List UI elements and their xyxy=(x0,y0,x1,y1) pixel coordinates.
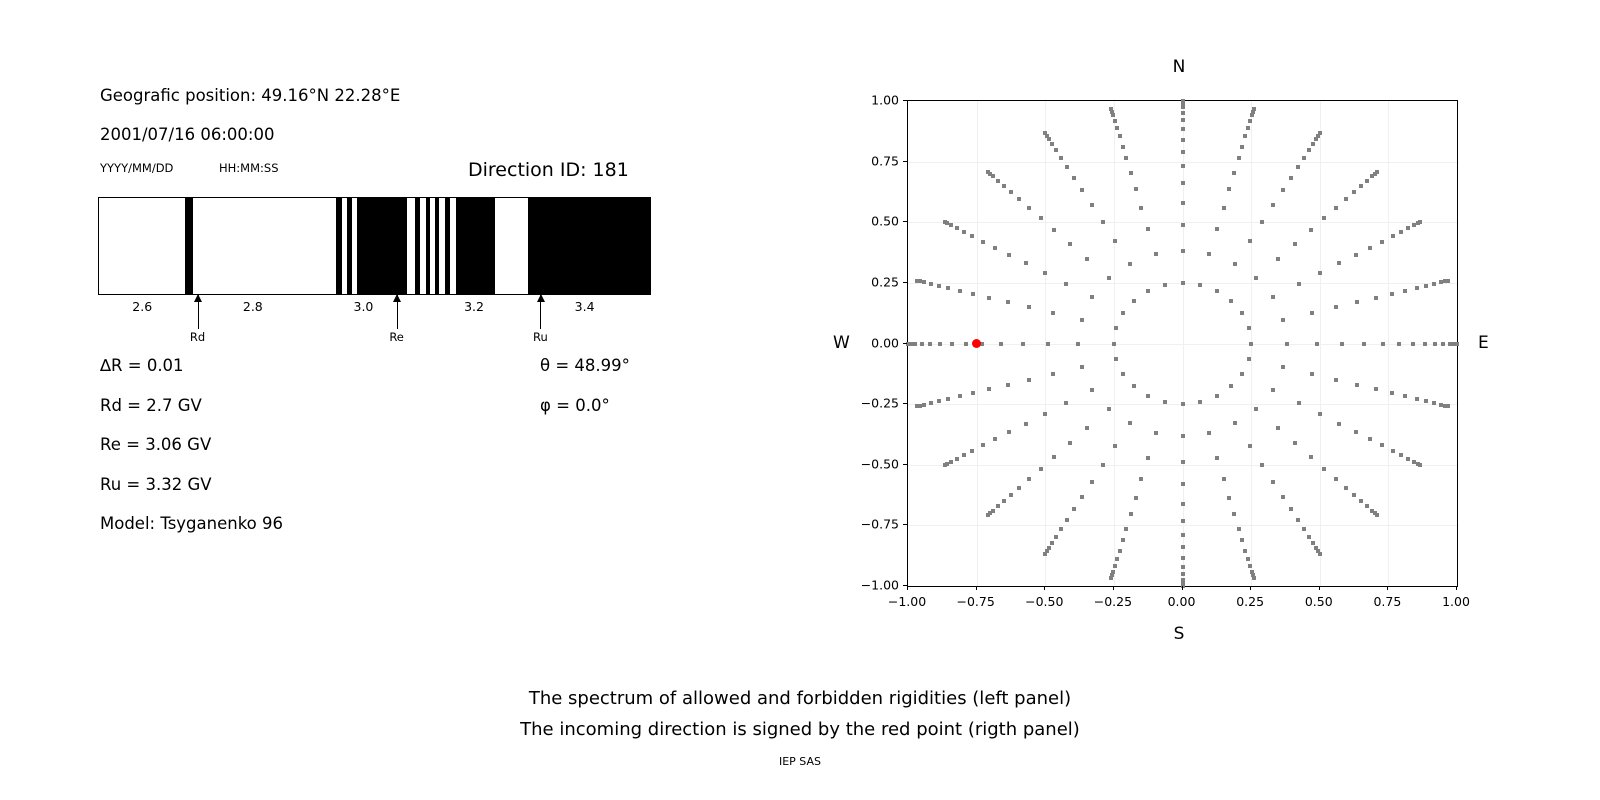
scatter-point xyxy=(1406,226,1410,230)
scatter-point xyxy=(1249,342,1253,346)
scatter-point xyxy=(1124,156,1128,160)
scatter-point xyxy=(1054,535,1058,539)
x-axis-tick-mark xyxy=(1113,586,1114,590)
scatter-point xyxy=(958,289,962,293)
scatter-point xyxy=(1359,184,1363,188)
scatter-point xyxy=(1352,190,1356,194)
scatter-point xyxy=(1051,372,1055,376)
scatter-point xyxy=(1254,407,1258,411)
scatter-point xyxy=(1302,156,1306,160)
scatter-point xyxy=(1052,455,1056,459)
scatter-point xyxy=(1181,150,1185,154)
scatter-point xyxy=(1181,519,1185,523)
scatter-point xyxy=(1281,188,1285,192)
scatter-point xyxy=(1340,342,1344,346)
x-axis-tick-label: 0.50 xyxy=(1305,594,1333,609)
scatter-point xyxy=(1017,486,1021,490)
scatter-point xyxy=(1076,342,1080,346)
scatter-point xyxy=(1181,434,1185,438)
scatter-point xyxy=(999,342,1003,346)
scatter-point xyxy=(1009,190,1013,194)
scatter-point xyxy=(1146,289,1150,293)
scatter-point xyxy=(1181,281,1185,285)
gridline-horizontal xyxy=(908,162,1457,163)
scatter-point xyxy=(1181,545,1185,549)
y-axis-tick-mark xyxy=(903,282,907,283)
parameter-row: Rd = 2.7 GV xyxy=(100,396,202,415)
scatter-point xyxy=(1064,401,1068,405)
scatter-point xyxy=(1154,252,1158,256)
x-axis-tick-mark xyxy=(1319,586,1320,590)
scatter-point xyxy=(1432,282,1436,286)
incoming-direction-marker xyxy=(972,339,981,348)
scatter-point xyxy=(1121,311,1125,315)
compass-label-north: N xyxy=(1173,57,1186,77)
scatter-point xyxy=(1441,342,1445,346)
datetime-label: 2001/07/16 06:00:00 xyxy=(100,125,274,144)
parameter-row: Ru = 3.32 GV xyxy=(100,475,212,494)
scatter-point xyxy=(1368,437,1372,441)
scatter-point xyxy=(986,170,990,174)
scatter-point xyxy=(1090,203,1094,207)
scatter-point xyxy=(1181,565,1185,569)
scatter-point xyxy=(1181,127,1185,131)
scatter-point xyxy=(1064,282,1068,286)
scatter-point xyxy=(1322,216,1326,220)
scatter-point xyxy=(1318,131,1322,135)
caption-line-2: The incoming direction is signed by the … xyxy=(0,719,1600,740)
x-axis-tick-mark xyxy=(1250,586,1251,590)
x-axis-tick-mark xyxy=(976,586,977,590)
forbidden-band xyxy=(357,197,407,295)
scatter-point xyxy=(1107,276,1111,280)
scatter-point xyxy=(1337,422,1341,426)
scatter-point xyxy=(1248,239,1252,243)
scatter-point xyxy=(1043,412,1047,416)
scatter-point xyxy=(1276,257,1280,261)
scatter-point xyxy=(1281,495,1285,499)
scatter-point xyxy=(1215,394,1219,398)
scatter-point xyxy=(937,399,941,403)
parameter-row: θ = 48.99° xyxy=(540,356,630,375)
scatter-point xyxy=(1240,145,1244,149)
scatter-point xyxy=(937,284,941,288)
scatter-point xyxy=(1072,507,1076,511)
date-format-hint: YYYY/MM/DD xyxy=(100,161,173,175)
x-axis-tick-mark xyxy=(1182,586,1183,590)
scatter-point xyxy=(1222,206,1226,210)
x-axis-tick-mark xyxy=(907,586,908,590)
scatter-point xyxy=(958,394,962,398)
scatter-point xyxy=(1229,384,1233,388)
scatter-point xyxy=(1233,262,1237,266)
scatter-point xyxy=(1381,342,1385,346)
scatter-point xyxy=(1271,203,1275,207)
x-axis-tick-label: 0.25 xyxy=(1236,594,1264,609)
scatter-point xyxy=(987,387,991,391)
spectrum-tick-label: 3.0 xyxy=(353,299,373,314)
scatter-point xyxy=(1027,305,1031,309)
scatter-point xyxy=(1006,300,1010,304)
scatter-point xyxy=(1080,495,1084,499)
scatter-point xyxy=(1302,527,1306,531)
scatter-point xyxy=(1215,289,1219,293)
forbidden-band xyxy=(528,197,651,295)
forbidden-band xyxy=(445,197,450,295)
rigidity-spectrum-panel: Geografic position: 49.16°N 22.28°E 2001… xyxy=(0,0,800,680)
scatter-point xyxy=(915,279,919,283)
scatter-point xyxy=(1391,234,1395,238)
x-axis-tick-label: 0.00 xyxy=(1168,594,1196,609)
gridline-horizontal xyxy=(908,525,1457,526)
scatter-point xyxy=(1113,564,1117,568)
scatter-point xyxy=(1281,365,1285,369)
scatter-point xyxy=(1296,165,1300,169)
scatter-point xyxy=(1271,388,1275,392)
scatter-point xyxy=(1423,342,1427,346)
scatter-point xyxy=(1375,170,1379,174)
scatter-point xyxy=(1129,512,1133,516)
scatter-point xyxy=(1334,305,1338,309)
gridline-horizontal xyxy=(908,465,1457,466)
scatter-point xyxy=(1085,257,1089,261)
scatter-point xyxy=(1399,453,1403,457)
scatter-point xyxy=(1315,342,1319,346)
y-axis-tick-mark xyxy=(903,524,907,525)
spectrum-tick-label: 3.2 xyxy=(464,299,484,314)
scatter-point xyxy=(1411,342,1415,346)
scatter-point xyxy=(1318,412,1322,416)
scatter-axes xyxy=(907,100,1458,587)
scatter-point xyxy=(1260,220,1264,224)
scatter-point xyxy=(1181,556,1185,560)
scatter-point xyxy=(1027,378,1031,382)
scatter-point xyxy=(971,292,975,296)
scatter-point xyxy=(1181,223,1185,227)
scatter-point xyxy=(1113,239,1117,243)
scatter-point xyxy=(1307,535,1311,539)
scatter-point xyxy=(1113,119,1117,123)
scatter-point xyxy=(1415,397,1419,401)
scatter-point xyxy=(1424,399,1428,403)
scatter-point xyxy=(1318,271,1322,275)
scatter-point xyxy=(1115,557,1119,561)
scatter-point xyxy=(1181,482,1185,486)
scatter-point xyxy=(1046,342,1050,346)
scatter-point xyxy=(1080,365,1084,369)
scatter-point xyxy=(1124,527,1128,531)
scatter-point xyxy=(1163,400,1167,404)
x-axis-tick-mark xyxy=(1387,586,1388,590)
x-axis-tick-label: 1.00 xyxy=(1442,594,1470,609)
scatter-point xyxy=(1233,421,1237,425)
scatter-point xyxy=(1109,576,1113,580)
scatter-point xyxy=(962,453,966,457)
scatter-point xyxy=(929,401,933,405)
scatter-point xyxy=(1380,240,1384,244)
scatter-point xyxy=(1146,456,1150,460)
scatter-point xyxy=(1246,557,1250,561)
forbidden-band xyxy=(435,197,439,295)
spectrum-marker-label-ru: Ru xyxy=(533,330,548,344)
scatter-point xyxy=(1181,138,1185,142)
scatter-point xyxy=(1293,441,1297,445)
scatter-point xyxy=(1229,299,1233,303)
scatter-point xyxy=(1240,372,1244,376)
scatter-point xyxy=(1024,422,1028,426)
scatter-point xyxy=(1139,477,1143,481)
geographic-position-label: Geografic position: 49.16°N 22.28°E xyxy=(100,86,400,105)
scatter-point xyxy=(1121,145,1125,149)
scatter-point xyxy=(1354,430,1358,434)
scatter-point xyxy=(1121,538,1125,542)
scatter-point xyxy=(1415,286,1419,290)
scatter-point xyxy=(1181,201,1185,205)
y-axis-tick-label: −0.75 xyxy=(845,517,899,532)
scatter-point xyxy=(1181,502,1185,506)
scatter-point xyxy=(1112,342,1116,346)
scatter-point xyxy=(1368,246,1372,250)
scatter-point xyxy=(1207,431,1211,435)
caption-line-1: The spectrum of allowed and forbidden ri… xyxy=(0,688,1600,709)
scatter-point xyxy=(920,342,924,346)
scatter-point xyxy=(981,443,985,447)
scatter-point xyxy=(1181,402,1185,406)
scatter-point xyxy=(1310,311,1314,315)
x-axis-tick-label: −1.00 xyxy=(888,594,926,609)
scatter-point xyxy=(1252,576,1256,580)
scatter-point xyxy=(1297,282,1301,286)
scatter-point xyxy=(1039,467,1043,471)
scatter-point xyxy=(1240,311,1244,315)
forbidden-band xyxy=(347,197,353,295)
y-axis-tick-mark xyxy=(903,100,907,101)
x-axis-tick-label: −0.50 xyxy=(1025,594,1063,609)
scatter-point xyxy=(1181,460,1185,464)
spectrum-marker-arrow-rd xyxy=(198,295,199,329)
scatter-point xyxy=(987,296,991,300)
scatter-point xyxy=(1232,512,1236,516)
scatter-point xyxy=(1146,394,1150,398)
scatter-point xyxy=(1065,165,1069,169)
spectrum-tick-label: 3.4 xyxy=(575,299,595,314)
scatter-point xyxy=(1107,407,1111,411)
scatter-point xyxy=(1406,457,1410,461)
scatter-point xyxy=(962,230,966,234)
spectrum-marker-arrow-ru xyxy=(540,295,541,329)
scatter-point xyxy=(1359,499,1363,503)
scatter-point xyxy=(1403,394,1407,398)
scatter-point xyxy=(1006,383,1010,387)
scatter-point xyxy=(1446,279,1450,283)
scatter-point xyxy=(1247,326,1251,330)
scatter-point xyxy=(1118,549,1122,553)
scatter-point xyxy=(1322,467,1326,471)
scatter-point xyxy=(1054,148,1058,152)
scatter-point xyxy=(1007,430,1011,434)
scatter-point xyxy=(1243,549,1247,553)
y-axis-tick-mark xyxy=(903,343,907,344)
scatter-point xyxy=(1311,541,1315,545)
scatter-point xyxy=(955,226,959,230)
scatter-point xyxy=(964,342,968,346)
scatter-point xyxy=(1132,384,1136,388)
spectrum-tick-label: 2.6 xyxy=(132,299,152,314)
scatter-point xyxy=(1101,220,1105,224)
scatter-point xyxy=(1297,401,1301,405)
x-axis-tick-label: −0.75 xyxy=(956,594,994,609)
scatter-point xyxy=(1090,388,1094,392)
scatter-point xyxy=(1027,477,1031,481)
y-axis-tick-label: 0.00 xyxy=(845,335,899,350)
parameter-row: Model: Tsyganenko 96 xyxy=(100,514,283,533)
scatter-point xyxy=(1374,387,1378,391)
parameter-row: Re = 3.06 GV xyxy=(100,435,211,454)
spectrum-axis: 2.62.83.03.23.4 RdReRu xyxy=(98,295,651,347)
spectrum-marker-label-rd: Rd xyxy=(190,330,205,344)
scatter-point xyxy=(946,397,950,401)
scatter-point xyxy=(1085,426,1089,430)
scatter-point xyxy=(1181,105,1185,109)
x-axis-tick-label: −0.25 xyxy=(1094,594,1132,609)
scatter-point xyxy=(1455,342,1459,346)
scatter-point xyxy=(993,246,997,250)
scatter-point xyxy=(971,391,975,395)
y-axis-tick-label: −0.50 xyxy=(845,456,899,471)
scatter-point xyxy=(981,240,985,244)
scatter-point xyxy=(1354,253,1358,257)
y-axis-tick-mark xyxy=(903,403,907,404)
scatter-point xyxy=(1403,289,1407,293)
figure-root: Geografic position: 49.16°N 22.28°E 2001… xyxy=(0,0,1600,800)
scatter-point xyxy=(1002,499,1006,503)
scatter-point xyxy=(1198,283,1202,287)
scatter-point xyxy=(1181,572,1185,576)
scatter-point xyxy=(1163,283,1167,287)
scatter-point xyxy=(1260,463,1264,467)
parameter-row: ∆R = 0.01 xyxy=(100,356,184,375)
scatter-point xyxy=(1432,401,1436,405)
scatter-point xyxy=(1009,493,1013,497)
scatter-point xyxy=(1246,126,1250,130)
scatter-point xyxy=(1007,253,1011,257)
scatter-point xyxy=(970,234,974,238)
scatter-point xyxy=(1050,142,1054,146)
scatter-point xyxy=(1113,444,1117,448)
scatter-point xyxy=(1114,326,1118,330)
scatter-point xyxy=(1080,318,1084,322)
scatter-point xyxy=(1181,249,1185,253)
scatter-point xyxy=(1024,261,1028,265)
scatter-point xyxy=(1059,156,1063,160)
scatter-point xyxy=(1132,299,1136,303)
scatter-point xyxy=(1181,118,1185,122)
scatter-point xyxy=(1250,113,1254,117)
scatter-point xyxy=(1252,107,1256,111)
scatter-point xyxy=(938,342,942,346)
scatter-point xyxy=(1355,300,1359,304)
scatter-point xyxy=(1146,227,1150,231)
scatter-point xyxy=(970,449,974,453)
scatter-point xyxy=(946,286,950,290)
scatter-point xyxy=(1181,181,1185,185)
scatter-point xyxy=(1334,378,1338,382)
scatter-point xyxy=(915,404,919,408)
scatter-point xyxy=(1181,164,1185,168)
scatter-point xyxy=(1121,372,1125,376)
scatter-point xyxy=(996,504,1000,508)
scatter-point xyxy=(1065,518,1069,522)
scatter-point xyxy=(1355,383,1359,387)
scatter-point xyxy=(1293,242,1297,246)
scatter-point xyxy=(1311,142,1315,146)
scatter-point xyxy=(929,282,933,286)
scatter-point xyxy=(1021,342,1025,346)
scatter-point xyxy=(1114,357,1118,361)
scatter-point xyxy=(1446,404,1450,408)
forbidden-band xyxy=(456,197,494,295)
x-axis-tick-mark xyxy=(1456,586,1457,590)
scatter-point xyxy=(1237,527,1241,531)
scatter-point xyxy=(1090,295,1094,299)
scatter-point xyxy=(1365,179,1369,183)
scatter-point xyxy=(1207,252,1211,256)
scatter-point xyxy=(1052,228,1056,232)
scatter-point xyxy=(1362,342,1366,346)
scatter-point xyxy=(1134,187,1138,191)
scatter-point xyxy=(922,280,926,284)
scatter-point xyxy=(1380,443,1384,447)
scatter-point xyxy=(1068,441,1072,445)
scatter-point xyxy=(913,342,917,346)
scatter-point xyxy=(1243,134,1247,138)
scatter-point xyxy=(1344,486,1348,490)
scatter-point xyxy=(996,179,1000,183)
scatter-point xyxy=(1248,119,1252,123)
scatter-point xyxy=(1391,449,1395,453)
forbidden-band xyxy=(185,197,193,295)
scatter-point xyxy=(1248,564,1252,568)
y-axis-tick-label: 1.00 xyxy=(845,93,899,108)
scatter-point xyxy=(1080,188,1084,192)
scatter-point xyxy=(1390,292,1394,296)
scatter-point xyxy=(1337,261,1341,265)
scatter-point xyxy=(949,223,953,227)
scatter-point xyxy=(1318,552,1322,556)
scatter-point xyxy=(1399,230,1403,234)
y-axis-tick-label: 0.50 xyxy=(845,214,899,229)
scatter-point xyxy=(1397,342,1401,346)
y-axis-tick-label: −1.00 xyxy=(845,578,899,593)
scatter-point xyxy=(1232,171,1236,175)
scatter-point xyxy=(1115,126,1119,130)
scatter-point xyxy=(1254,276,1258,280)
scatter-point xyxy=(1289,176,1293,180)
scatter-point xyxy=(1334,206,1338,210)
scatter-point xyxy=(1129,171,1133,175)
scatter-point xyxy=(1128,262,1132,266)
scatter-point xyxy=(1227,187,1231,191)
scatter-point xyxy=(1118,134,1122,138)
scatter-point xyxy=(943,463,947,467)
scatter-point xyxy=(1248,444,1252,448)
y-axis-tick-mark xyxy=(903,221,907,222)
forbidden-band xyxy=(415,197,419,295)
scatter-point xyxy=(1374,296,1378,300)
scatter-point xyxy=(1072,176,1076,180)
forbidden-band xyxy=(426,197,430,295)
scatter-point xyxy=(1101,463,1105,467)
